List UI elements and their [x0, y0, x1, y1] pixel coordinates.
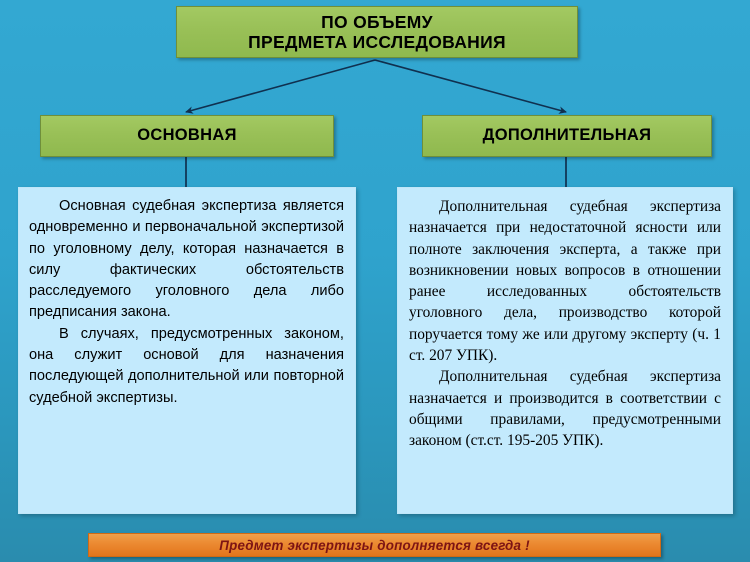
slide-canvas: ПО ОБЪЕМУ ПРЕДМЕТА ИССЛЕДОВАНИЯ ОСНОВНАЯ… — [0, 0, 750, 562]
panel-additional-paragraph-2: Дополнительная судебная экспертиза назна… — [409, 366, 721, 451]
category-label-additional: ДОПОЛНИТЕЛЬНАЯ — [483, 126, 652, 145]
category-box-main: ОСНОВНАЯ — [40, 115, 334, 157]
panel-main-paragraph-2: В случаях, предусмотренных законом, она … — [29, 324, 344, 409]
diagram-title-line1: ПО ОБЪЕМУ — [321, 12, 433, 32]
category-label-main: ОСНОВНАЯ — [137, 126, 237, 145]
connector-title-to-main — [186, 60, 375, 112]
connector-title-to-additional — [375, 60, 566, 112]
description-panel-main: Основная судебная экспертиза является од… — [18, 187, 356, 514]
panel-main-paragraph-1: Основная судебная экспертиза является од… — [29, 196, 344, 324]
footer-note-text: Предмет экспертизы дополняется всегда ! — [219, 538, 530, 553]
panel-additional-paragraph-1: Дополнительная судебная экспертиза назна… — [409, 196, 721, 366]
diagram-title-line2: ПРЕДМЕТА ИССЛЕДОВАНИЯ — [248, 32, 506, 52]
diagram-title-box: ПО ОБЪЕМУ ПРЕДМЕТА ИССЛЕДОВАНИЯ — [176, 6, 578, 58]
category-box-additional: ДОПОЛНИТЕЛЬНАЯ — [422, 115, 712, 157]
description-panel-additional: Дополнительная судебная экспертиза назна… — [397, 187, 733, 514]
footer-note-banner: Предмет экспертизы дополняется всегда ! — [88, 533, 661, 557]
